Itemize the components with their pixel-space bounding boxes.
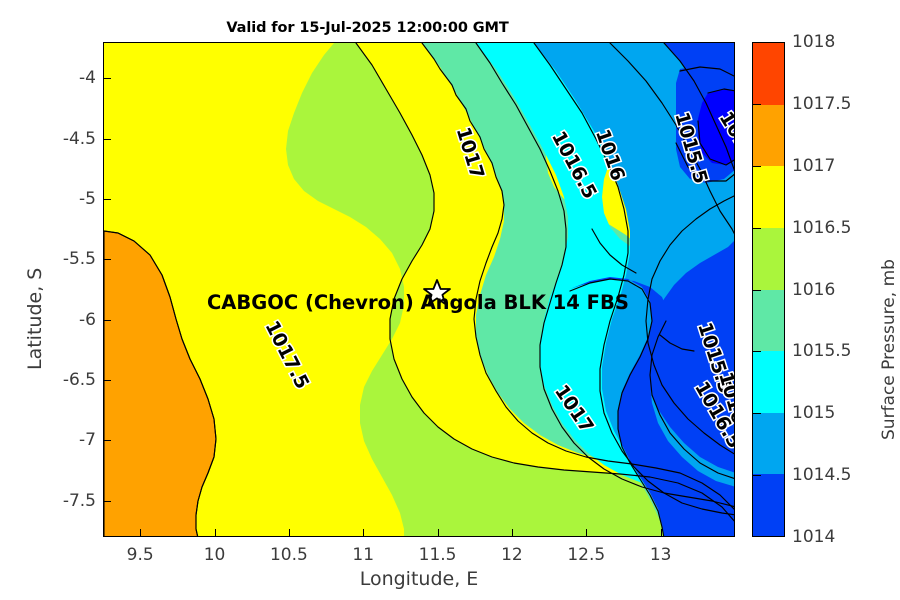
- y-tick-mark: [103, 380, 111, 381]
- colorbar-band: [753, 351, 784, 413]
- x-tick-mark: [215, 529, 216, 537]
- x-tick-mark: [289, 529, 290, 537]
- x-tick-mark: [661, 529, 662, 537]
- station-label: CABGOC (Chevron) Angola BLK 14 FBS: [207, 291, 629, 314]
- y-axis-label: Latitude, S: [24, 268, 46, 370]
- contour-plot: 10171016.510161015.5101510151017.5101710…: [103, 42, 735, 537]
- y-tick-label: -7: [40, 430, 96, 450]
- x-tick-mark: [512, 529, 513, 537]
- colorbar-tick-label: 1018: [792, 32, 835, 52]
- y-tick-label: -5: [40, 189, 96, 209]
- colorbar-tick-label: 1016: [792, 280, 835, 300]
- colorbar-tick-label: 1015: [792, 403, 835, 423]
- y-tick-label: -6.5: [40, 370, 96, 390]
- colorbar-band: [753, 474, 784, 536]
- y-tick-mark: [103, 78, 111, 79]
- x-tick-label: 10: [204, 545, 226, 565]
- x-tick-label: 13: [650, 545, 672, 565]
- x-tick-label: 12.5: [567, 545, 605, 565]
- x-tick-label: 12: [501, 545, 523, 565]
- colorbar-tick-label: 1014: [792, 527, 835, 547]
- y-tick-label: -6: [40, 310, 96, 330]
- y-tick-mark: [103, 139, 111, 140]
- y-tick-mark: [103, 259, 111, 260]
- y-tick-mark: [103, 320, 111, 321]
- colorbar-tick-label: 1015.5: [792, 341, 851, 361]
- colorbar-band: [753, 105, 784, 167]
- x-axis-label: Longitude, E: [103, 568, 735, 590]
- x-tick-label: 10.5: [270, 545, 308, 565]
- colorbar-tick-mark: [752, 475, 761, 476]
- y-tick-mark: [103, 440, 111, 441]
- x-tick-mark: [363, 529, 364, 537]
- y-tick-mark: [103, 501, 111, 502]
- colorbar-tick-mark: [752, 413, 761, 414]
- x-tick-label: 11.5: [419, 545, 457, 565]
- y-tick-mark: [103, 199, 111, 200]
- x-tick-label: 9.5: [127, 545, 154, 565]
- y-tick-label: -4.5: [40, 129, 96, 149]
- colorbar-title: Surface Pressure, mb: [879, 259, 899, 440]
- colorbar-band: [753, 228, 784, 290]
- colorbar-band: [753, 43, 784, 105]
- x-tick-label: 11: [352, 545, 374, 565]
- y-tick-label: -5.5: [40, 249, 96, 269]
- colorbar-tick-mark: [752, 228, 761, 229]
- colorbar-tick-label: 1014.5: [792, 465, 851, 485]
- contour-field: [104, 43, 735, 537]
- colorbar-band: [753, 290, 784, 352]
- colorbar-tick-label: 1016.5: [792, 218, 851, 238]
- colorbar-tick-mark: [752, 104, 761, 105]
- y-tick-label: -4: [40, 68, 96, 88]
- colorbar-tick-mark: [752, 290, 761, 291]
- colorbar-tick-label: 1017: [792, 156, 835, 176]
- colorbar-tick-mark: [752, 351, 761, 352]
- x-tick-mark: [438, 529, 439, 537]
- x-tick-mark: [586, 529, 587, 537]
- colorbar-band: [753, 166, 784, 228]
- x-tick-mark: [140, 529, 141, 537]
- colorbar-band: [753, 413, 784, 475]
- colorbar-tick-label: 1017.5: [792, 94, 851, 114]
- page-title: Valid for 15-Jul-2025 12:00:00 GMT: [0, 20, 735, 36]
- y-tick-label: -7.5: [40, 491, 96, 511]
- colorbar-tick-mark: [752, 166, 761, 167]
